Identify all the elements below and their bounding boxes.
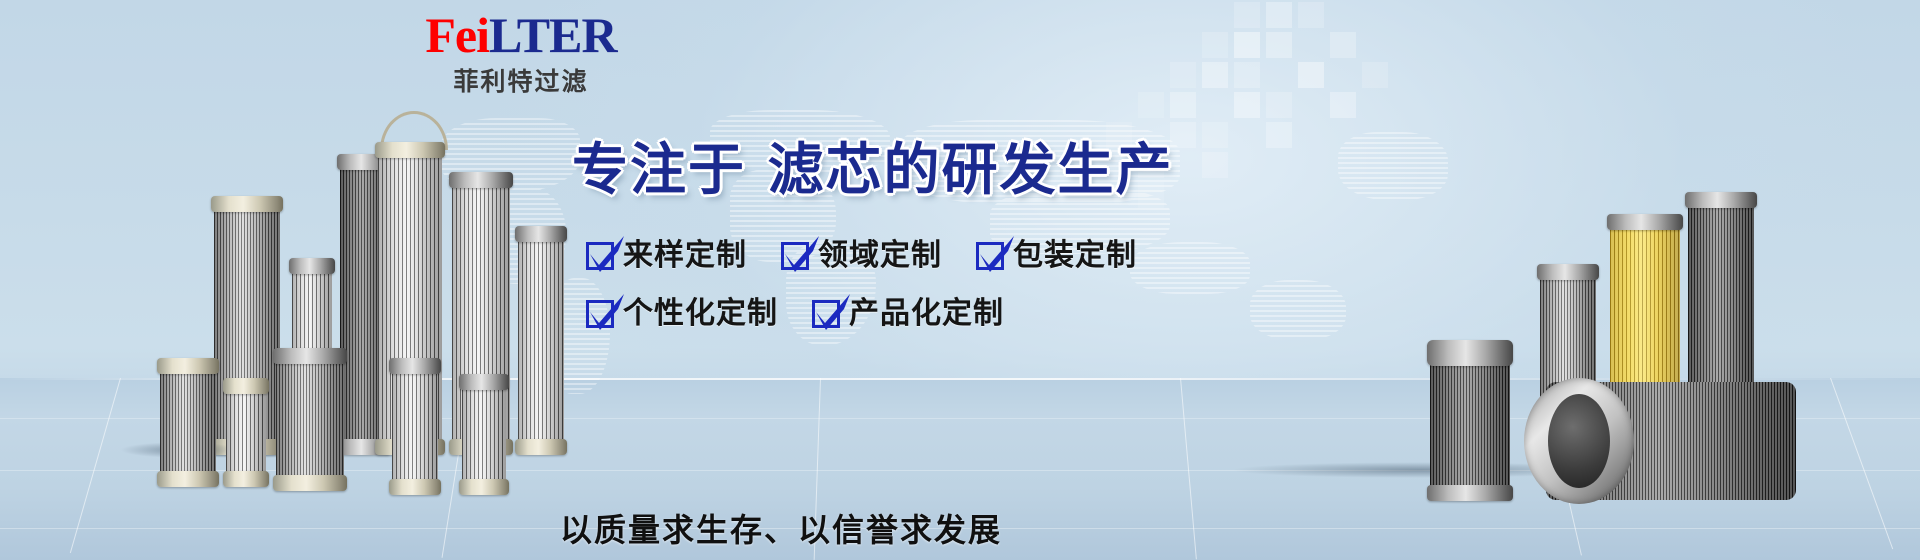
filter-end-ring-inner — [1548, 394, 1610, 488]
feature-row-1: 来样定制 领域定制 包装定制 — [586, 240, 1326, 272]
feature-row-2: 个性化定制 产品化定制 — [586, 298, 1326, 330]
filter-cartridge — [462, 380, 506, 490]
headline: 专注于 滤芯的研发生产 — [572, 140, 1174, 202]
brand-wordmark: FeiLTER — [396, 8, 646, 62]
feature-label: 个性化定制 — [623, 298, 778, 330]
promo-banner: FeiLTER 菲利特过滤 专注于 滤芯的研发生产 来样定制 领域定制 — [0, 0, 1920, 560]
brand-logo[interactable]: FeiLTER 菲利特过滤 — [396, 8, 646, 96]
filter-cartridge — [392, 364, 438, 490]
filter-cartridge — [226, 384, 266, 482]
checkbox-check-icon — [586, 300, 614, 328]
feature-label: 领域定制 — [818, 240, 942, 272]
feature-item-lingyu[interactable]: 领域定制 — [781, 240, 942, 272]
filter-cartridge — [518, 232, 564, 450]
feature-list: 来样定制 领域定制 包装定制 个性化定制 — [586, 240, 1326, 330]
feature-item-baozhuang[interactable]: 包装定制 — [976, 240, 1137, 272]
tagline: 以质量求生存、以信誉求发展 — [560, 512, 1002, 548]
checkbox-check-icon — [586, 242, 614, 270]
feature-item-gexinghua[interactable]: 个性化定制 — [586, 298, 778, 330]
checkbox-check-icon — [976, 242, 1004, 270]
brand-wordmark-blue: LTER — [489, 7, 617, 63]
filter-cartridge-group-right — [1300, 170, 1860, 470]
brand-subtitle-cn: 菲利特过滤 — [396, 68, 646, 96]
feature-label: 产品化定制 — [849, 298, 1004, 330]
filter-cartridge — [160, 364, 216, 482]
feature-item-chanpinhua[interactable]: 产品化定制 — [812, 298, 1004, 330]
feature-label: 来样定制 — [623, 240, 747, 272]
brand-wordmark-red: Fei — [425, 7, 489, 63]
checkbox-check-icon — [781, 242, 809, 270]
checkbox-check-icon — [812, 300, 840, 328]
feature-item-laiyang[interactable]: 来样定制 — [586, 240, 747, 272]
feature-label: 包装定制 — [1013, 240, 1137, 272]
filter-cartridge — [276, 354, 344, 486]
filter-cartridge — [1430, 346, 1510, 496]
